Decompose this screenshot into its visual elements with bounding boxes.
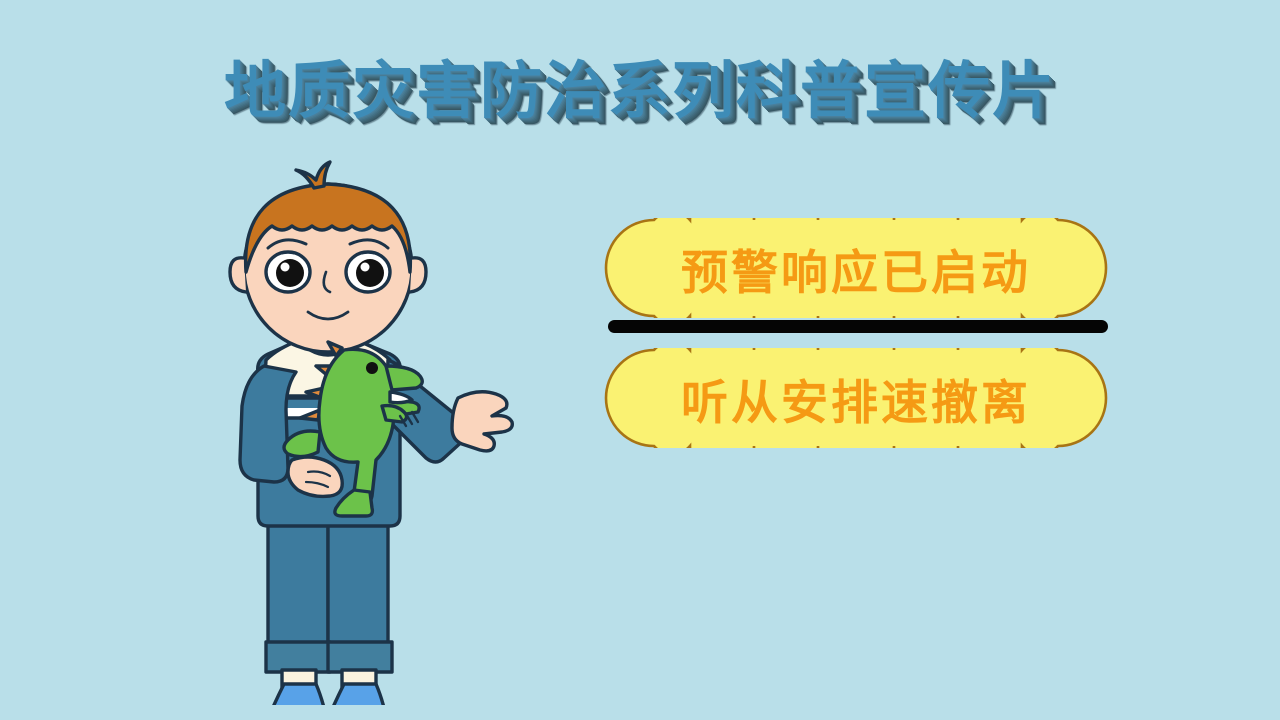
right-ear [410,258,426,292]
message-bubble-primary-text: 预警响应已启动 [681,234,1031,303]
page-title: 地质灾害防治系列科普宣传片 [224,58,1056,123]
left-pant-cuff [266,642,330,672]
right-shoe [329,684,387,705]
slide-canvas: 地质灾害防治系列科普宣传片 [0,0,1280,720]
hair-tuft [296,162,330,188]
message-bubble-secondary-text: 听从安排速撤离 [681,364,1031,433]
character-illustration [196,160,556,705]
right-hand [452,392,512,451]
right-pant-cuff [328,642,392,672]
left-ear [230,258,246,292]
message-bubble-secondary: 听从安排速撤离 [604,348,1108,448]
left-shoe [269,684,327,705]
divider-bar [608,320,1108,333]
title-block: 地质灾害防治系列科普宣传片 [0,58,1280,123]
message-bubble-primary: 预警响应已启动 [604,218,1108,318]
